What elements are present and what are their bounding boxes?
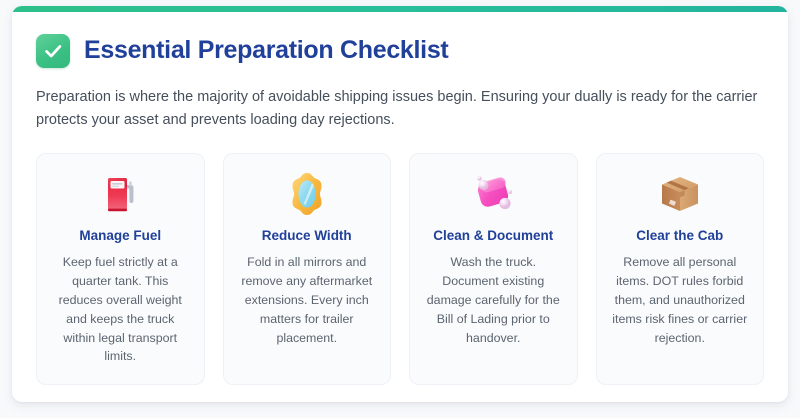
card-title: Reduce Width: [236, 228, 379, 244]
card-title: Clear the Cab: [609, 228, 752, 244]
checklist-card: Reduce Width Fold in all mirrors and rem…: [223, 153, 392, 385]
panel-header: Essential Preparation Checklist: [36, 34, 764, 68]
checklist-card: Clear the Cab Remove all personal items.…: [596, 153, 765, 385]
sponge-icon: [422, 170, 565, 218]
card-description: Keep fuel strictly at a quarter tank. Th…: [49, 253, 192, 366]
card-title: Clean & Document: [422, 228, 565, 244]
panel-body: Essential Preparation Checklist Preparat…: [12, 12, 788, 402]
card-description: Fold in all mirrors and remove any after…: [236, 253, 379, 347]
card-title: Manage Fuel: [49, 228, 192, 244]
cardboard-box-icon: [609, 170, 752, 218]
intro-paragraph: Preparation is where the majority of avo…: [36, 86, 764, 133]
checklist-card-grid: Manage Fuel Keep fuel strictly at a quar…: [36, 153, 764, 385]
mirror-icon: [236, 170, 379, 218]
card-description: Wash the truck. Document existing damage…: [422, 253, 565, 347]
card-description: Remove all personal items. DOT rules for…: [609, 253, 752, 347]
fuel-pump-icon: [49, 170, 192, 218]
checklist-card: Manage Fuel Keep fuel strictly at a quar…: [36, 153, 205, 385]
page-title: Essential Preparation Checklist: [84, 37, 448, 65]
checklist-panel: Essential Preparation Checklist Preparat…: [12, 6, 788, 402]
checklist-card: Clean & Document Wash the truck. Documen…: [409, 153, 578, 385]
check-icon: [36, 34, 70, 68]
